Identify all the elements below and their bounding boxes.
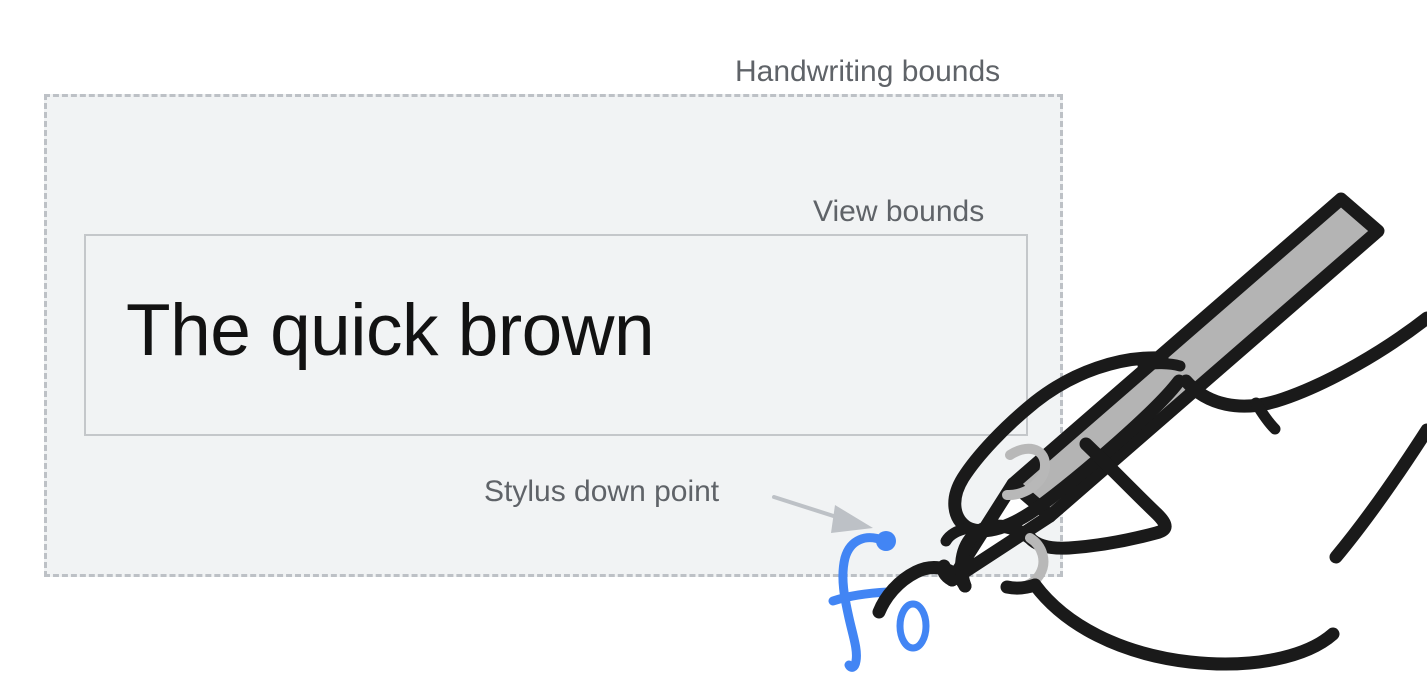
diagram-canvas: The quick brown Handwriting bounds View …	[0, 0, 1427, 688]
view-bounds-label: View bounds	[813, 197, 984, 227]
ink-stroke-o	[900, 604, 926, 648]
handwriting-bounds-label: Handwriting bounds	[735, 57, 1000, 87]
sample-text: The quick brown	[126, 294, 654, 367]
stylus-down-point-label: Stylus down point	[484, 477, 719, 507]
